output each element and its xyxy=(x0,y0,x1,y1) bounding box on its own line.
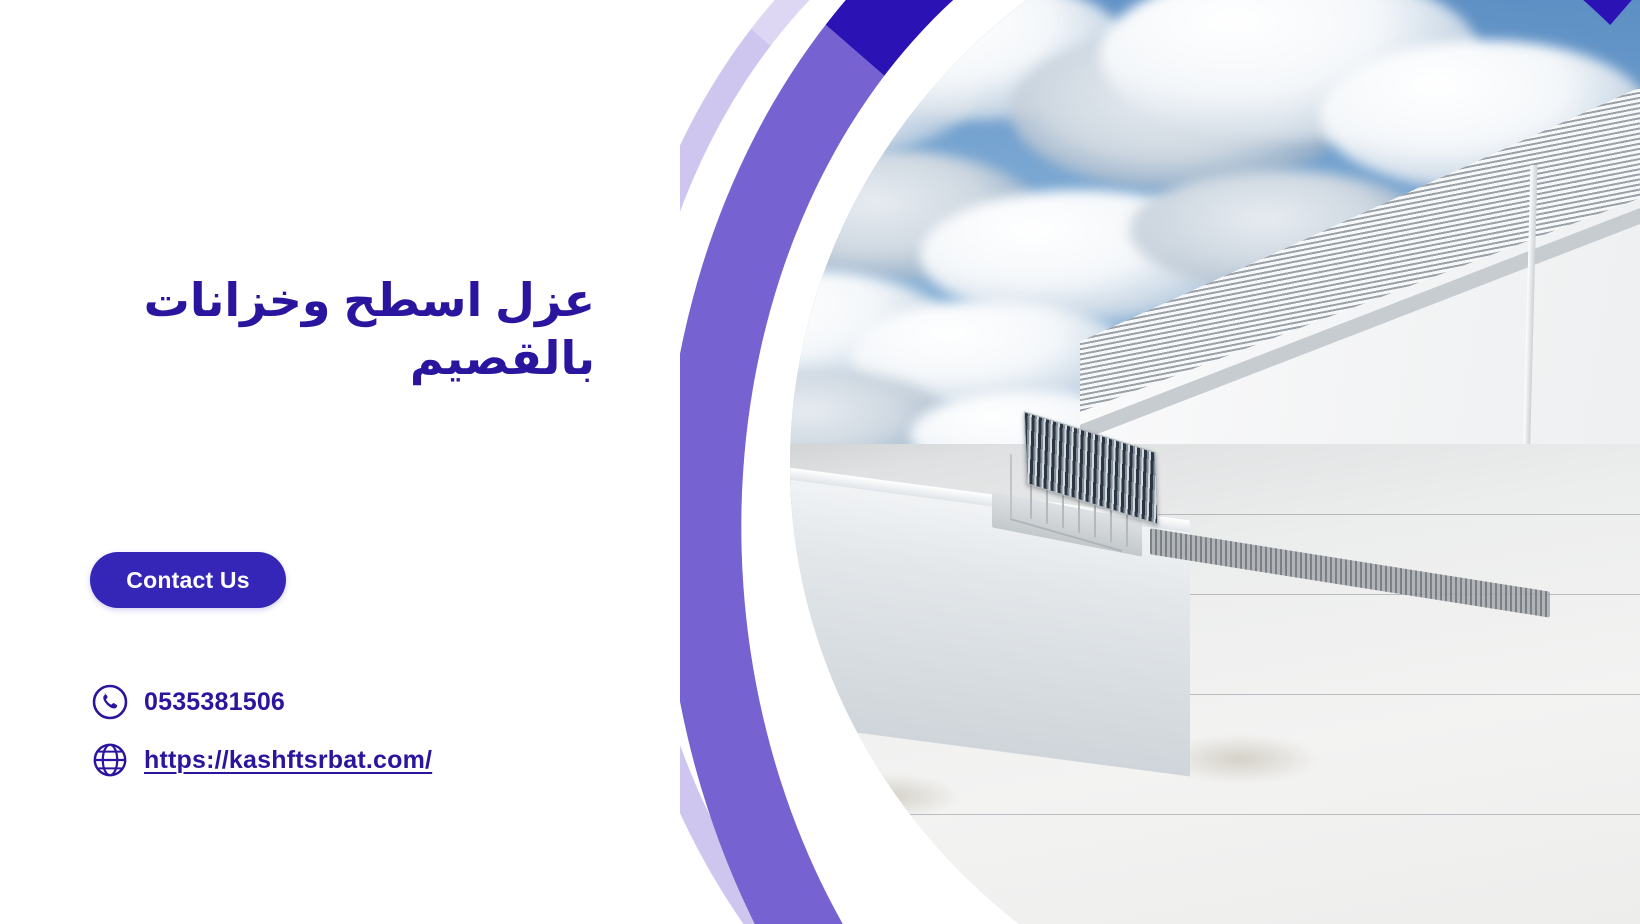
promo-banner: عزل اسطح وخزانات بالقصيم Contact Us 0535… xyxy=(0,0,1640,924)
content-panel: عزل اسطح وخزانات بالقصيم Contact Us 0535… xyxy=(0,0,700,924)
website-url-link[interactable]: https://kashftsrbat.com/ xyxy=(144,746,432,775)
hero-artwork xyxy=(680,0,1640,924)
phone-number-text: 0535381506 xyxy=(144,688,285,717)
globe-icon xyxy=(90,740,130,780)
contact-row-phone[interactable]: 0535381506 xyxy=(90,678,610,726)
page-title: عزل اسطح وخزانات بالقصيم xyxy=(90,272,595,387)
contact-row-website[interactable]: https://kashftsrbat.com/ xyxy=(90,736,610,784)
contact-us-button[interactable]: Contact Us xyxy=(90,552,286,608)
decorative-arc-main xyxy=(680,0,1640,924)
phone-circle-icon xyxy=(90,682,130,722)
contact-list: 0535381506 https://kashftsrbat.com/ xyxy=(90,678,610,794)
